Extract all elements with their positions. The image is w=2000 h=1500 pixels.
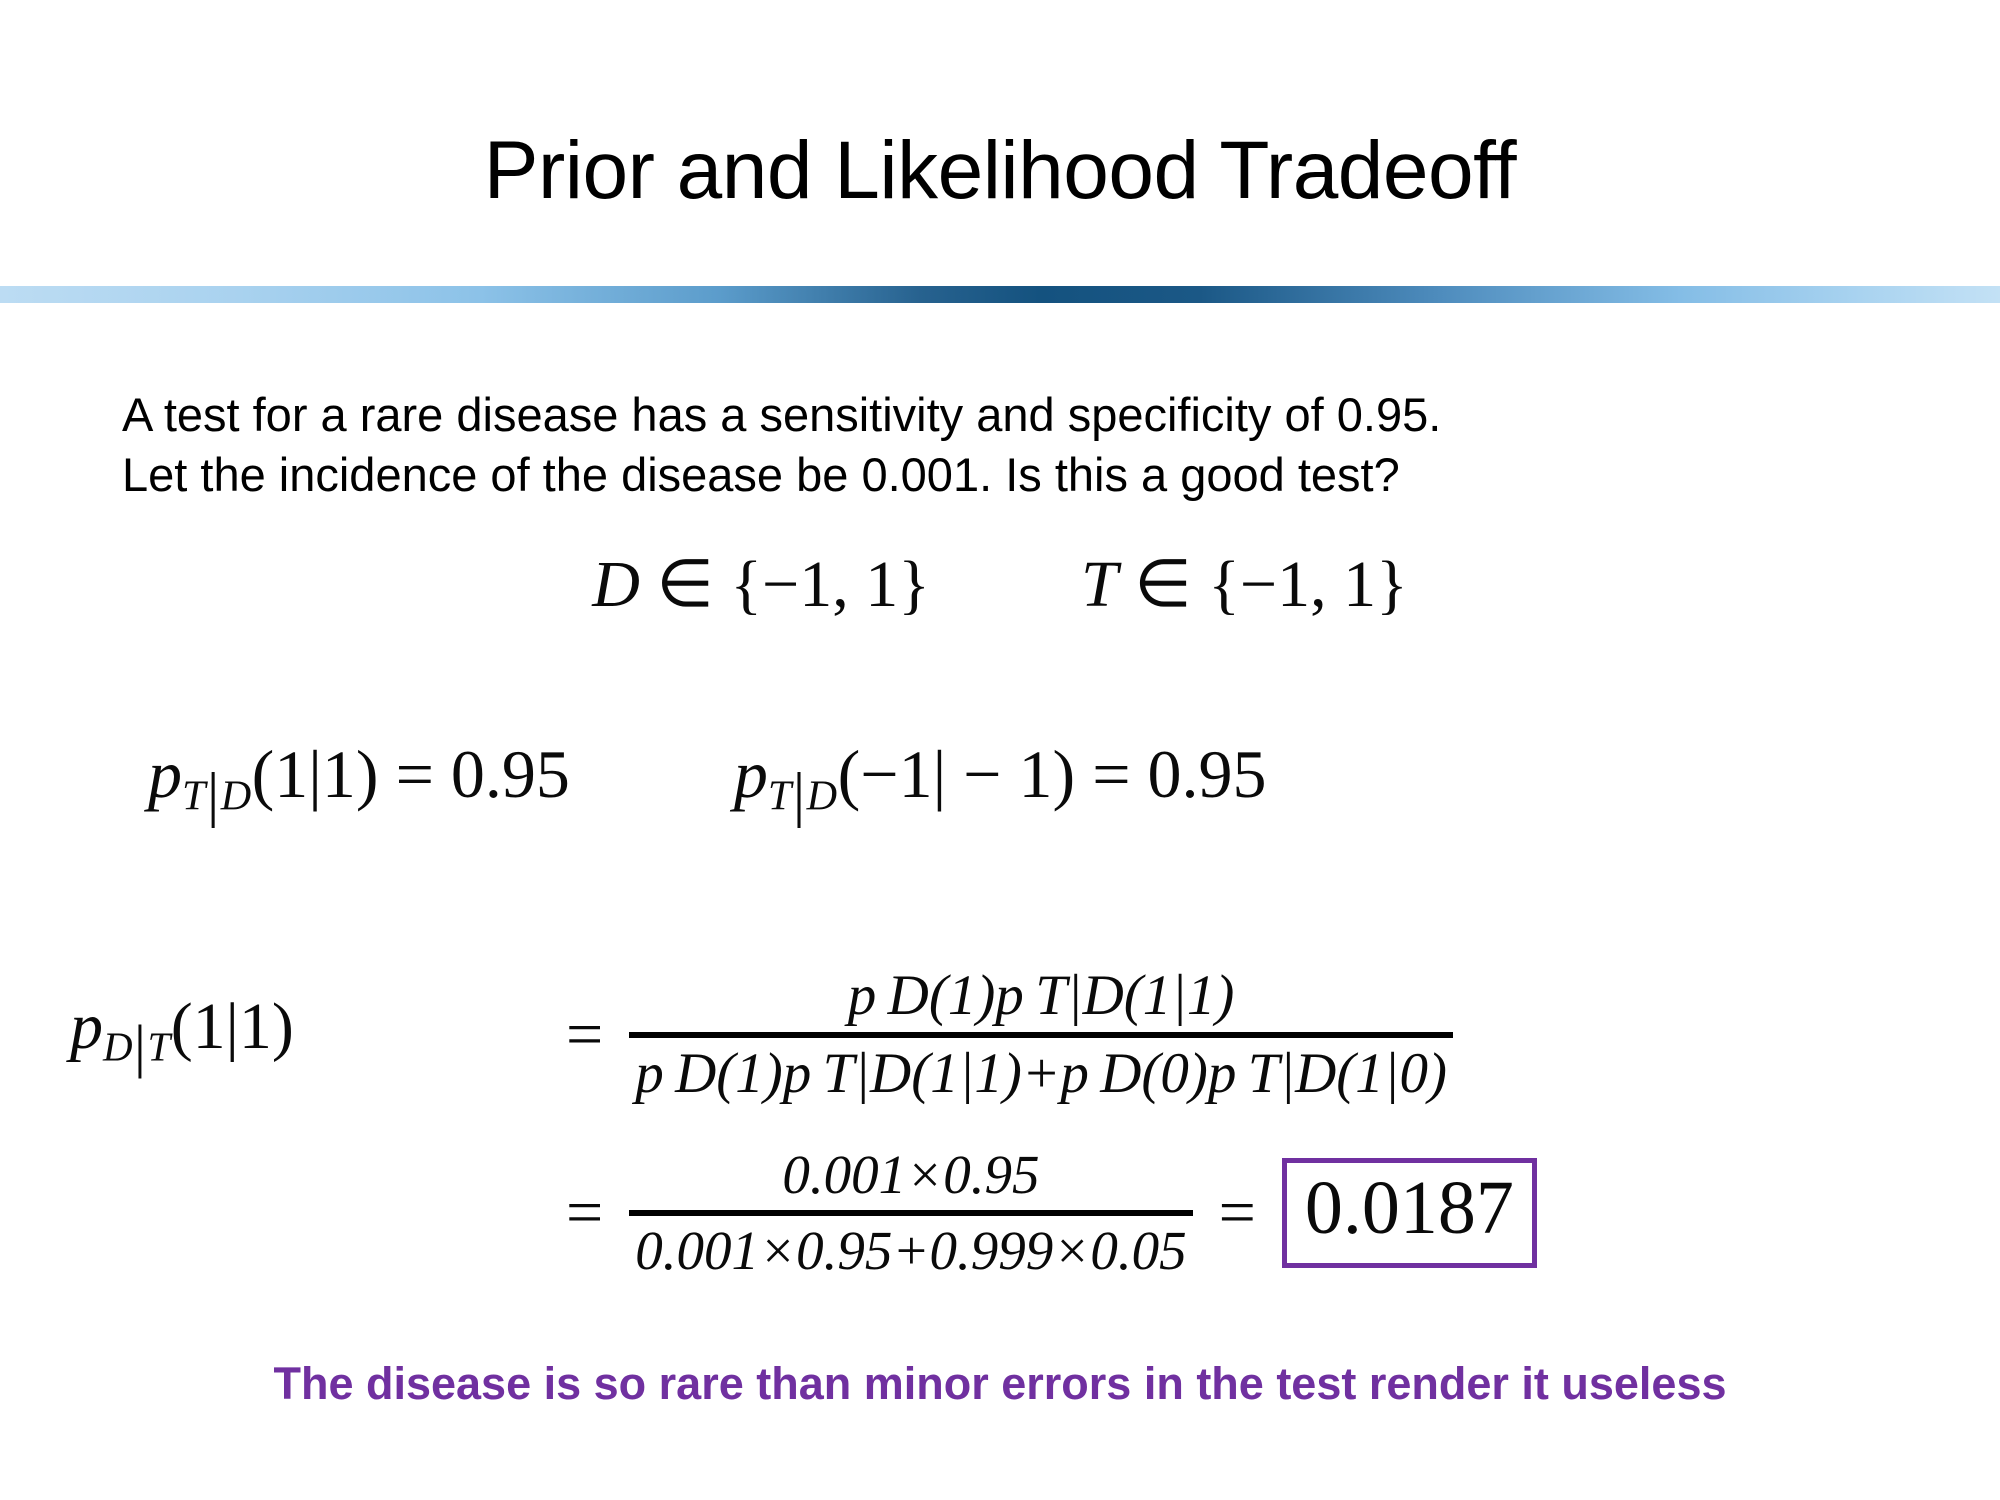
posterior-lhs: pD|T(1|1) <box>70 989 540 1081</box>
element-of-icon: ∈ <box>656 548 714 621</box>
p-symbol-3: p <box>70 990 103 1063</box>
equation-likelihoods: pT|D(1|1) = 0.95 pT|D(−1| − 1) = 0.95 <box>148 735 1948 831</box>
p-symbol: p <box>148 736 182 812</box>
body-paragraph: A test for a rare disease has a sensitiv… <box>122 385 1922 505</box>
bayes-symbolic-row: pD|T(1|1) = p D(1)p T|D(1|1) p D(1)p T|D… <box>70 940 1970 1130</box>
fraction-denominator-numeric: 0.001×0.95+0.999×0.05 <box>629 1222 1192 1280</box>
slide: Prior and Likelihood Tradeoff A test for… <box>0 0 2000 1500</box>
likelihood-value: 0.95 <box>451 736 570 812</box>
subscript-bar-2: | <box>792 761 807 829</box>
subscript-T-2: T <box>768 773 792 820</box>
title-divider-bar <box>0 286 2000 303</box>
equals-sign-3: = <box>540 997 629 1073</box>
fraction-symbolic: p D(1)p T|D(1|1) p D(1)p T|D(1|1)+p D(0)… <box>629 966 1453 1104</box>
conclusion-caption: The disease is so rare than minor errors… <box>0 1358 2000 1410</box>
fraction-bar-2 <box>629 1210 1192 1216</box>
subscript-bar: | <box>206 761 221 829</box>
likelihood-specificity: pT|D(−1| − 1) = 0.95 <box>734 736 1267 812</box>
variable-T: T <box>1081 548 1118 621</box>
subscript-D: D <box>221 773 252 820</box>
body-line-2: Let the incidence of the disease be 0.00… <box>122 445 1922 505</box>
body-line-1: A test for a rare disease has a sensitiv… <box>122 385 1922 445</box>
subscript-bar-3: | <box>133 1013 147 1079</box>
fraction-numerator-numeric: 0.001×0.95 <box>776 1146 1045 1204</box>
equals-sign-4: = <box>540 1175 629 1251</box>
equals-sign-5: = <box>1193 1175 1282 1251</box>
p-symbol-2: p <box>734 736 768 812</box>
equals-sign-2: = <box>1092 736 1130 812</box>
fraction-denominator: p D(1)p T|D(1|1)+p D(0)p T|D(1|0) <box>629 1044 1453 1104</box>
arguments: (1|1) <box>252 736 379 812</box>
element-of-icon-2: ∈ <box>1134 548 1192 621</box>
subscript-D-3: D <box>103 1024 133 1069</box>
equation-bayes-derivation: pD|T(1|1) = p D(1)p T|D(1|1) p D(1)p T|D… <box>70 940 1970 1288</box>
equals-sign: = <box>396 736 434 812</box>
page-title: Prior and Likelihood Tradeoff <box>0 130 2000 212</box>
likelihood-value-2: 0.95 <box>1148 736 1267 812</box>
equation-variable-domains: D ∈ {−1, 1} T ∈ {−1, 1} <box>0 545 2000 623</box>
arguments-3: (1|1) <box>171 990 294 1063</box>
fraction-bar <box>629 1032 1453 1038</box>
fraction-numerator: p D(1)p T|D(1|1) <box>842 966 1241 1026</box>
subscript-T: T <box>182 773 206 820</box>
subscript-D-2: D <box>807 773 838 820</box>
arguments-2: (−1| − 1) <box>838 736 1076 812</box>
fraction-numeric: 0.001×0.95 0.001×0.95+0.999×0.05 <box>629 1146 1192 1280</box>
set-T-values: {−1, 1} <box>1208 548 1408 621</box>
subscript-T-3: T <box>147 1024 170 1069</box>
bayes-numeric-row: = 0.001×0.95 0.001×0.95+0.999×0.05 = 0.0… <box>70 1138 1970 1288</box>
variable-D: D <box>592 548 640 621</box>
set-D-values: {−1, 1} <box>730 548 930 621</box>
likelihood-sensitivity: pT|D(1|1) = 0.95 <box>148 736 570 812</box>
result-highlight-box: 0.0187 <box>1282 1158 1537 1268</box>
